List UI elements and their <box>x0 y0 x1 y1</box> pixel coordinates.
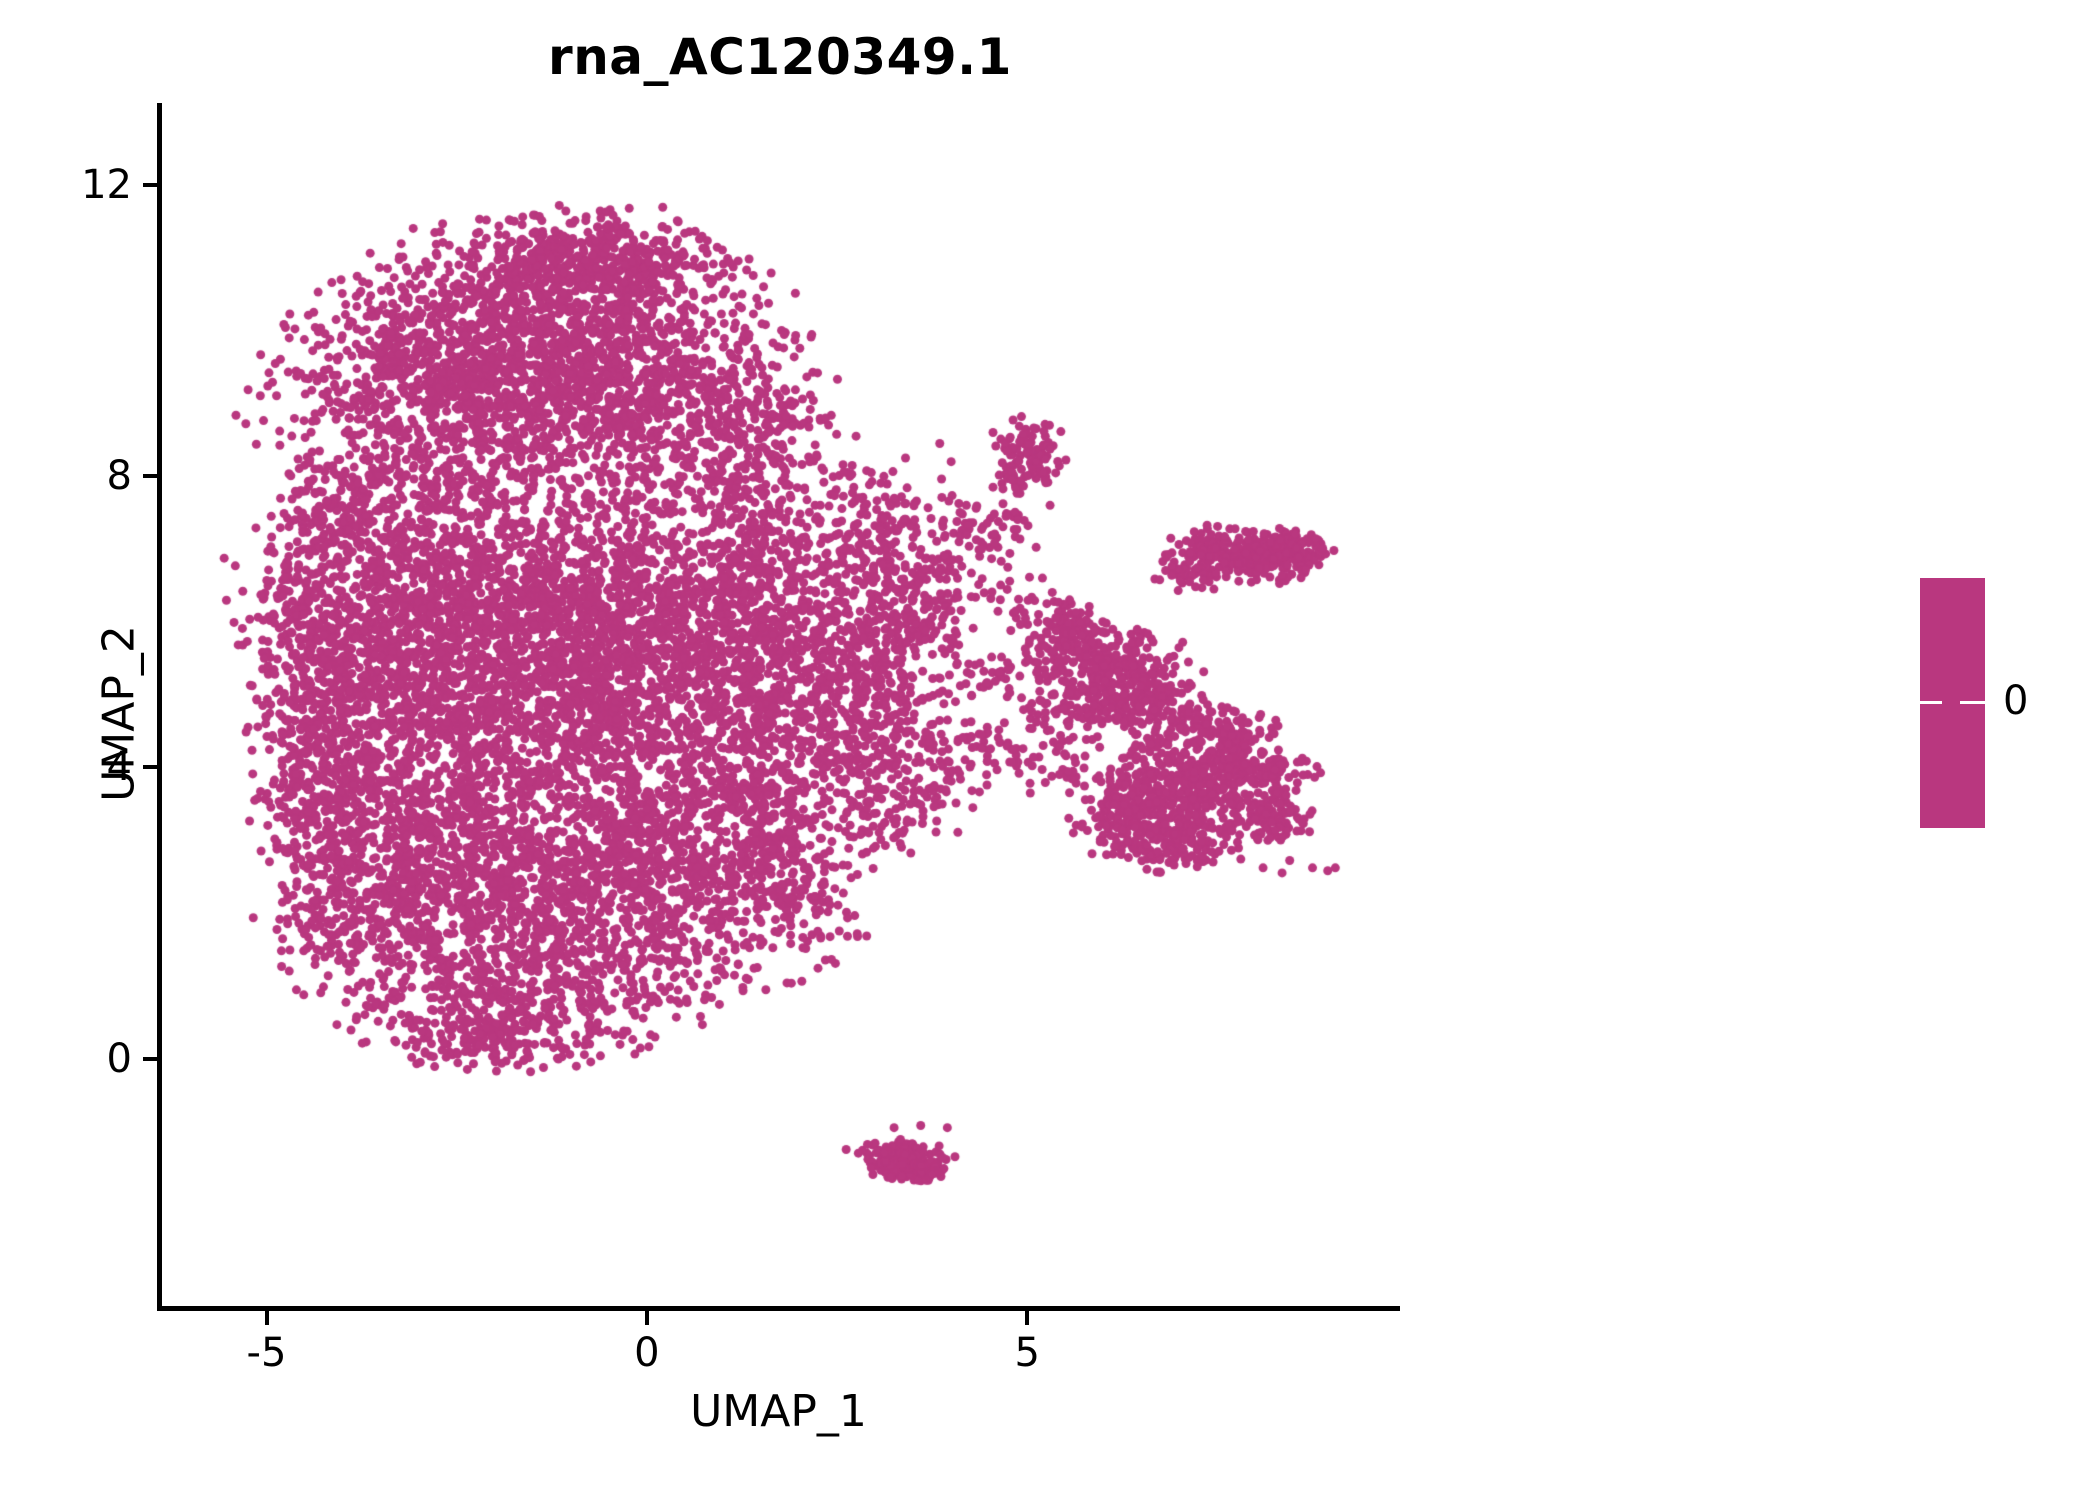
x-axis-label: UMAP_1 <box>157 1386 1400 1437</box>
y-axis-line <box>157 103 162 1311</box>
y-tick-mark <box>143 765 157 769</box>
colorbar-tick-label: 0 <box>2003 678 2028 724</box>
x-tick-mark <box>1025 1311 1029 1325</box>
y-axis-label: UMAP_2 <box>94 314 145 1114</box>
colorbar-tick-center-fill <box>1942 701 1960 704</box>
y-tick-label: 12 <box>81 162 132 208</box>
x-tick-label: 5 <box>1015 1330 1040 1376</box>
y-tick-mark <box>143 474 157 478</box>
y-tick-mark <box>143 1057 157 1061</box>
x-tick-mark <box>645 1311 649 1325</box>
x-axis-line <box>157 1306 1400 1311</box>
colorbar: 0 <box>1920 578 2080 918</box>
x-tick-label: -5 <box>247 1330 287 1376</box>
y-tick-mark <box>143 183 157 187</box>
scatter-canvas <box>0 0 2100 1500</box>
x-tick-label: 0 <box>634 1330 659 1376</box>
umap-feature-plot-figure: rna_AC120349.1 -5 0 5 12 8 4 0 UMAP_1 UM… <box>0 0 2100 1500</box>
x-tick-mark <box>265 1311 269 1325</box>
plot-area <box>0 0 2100 1500</box>
